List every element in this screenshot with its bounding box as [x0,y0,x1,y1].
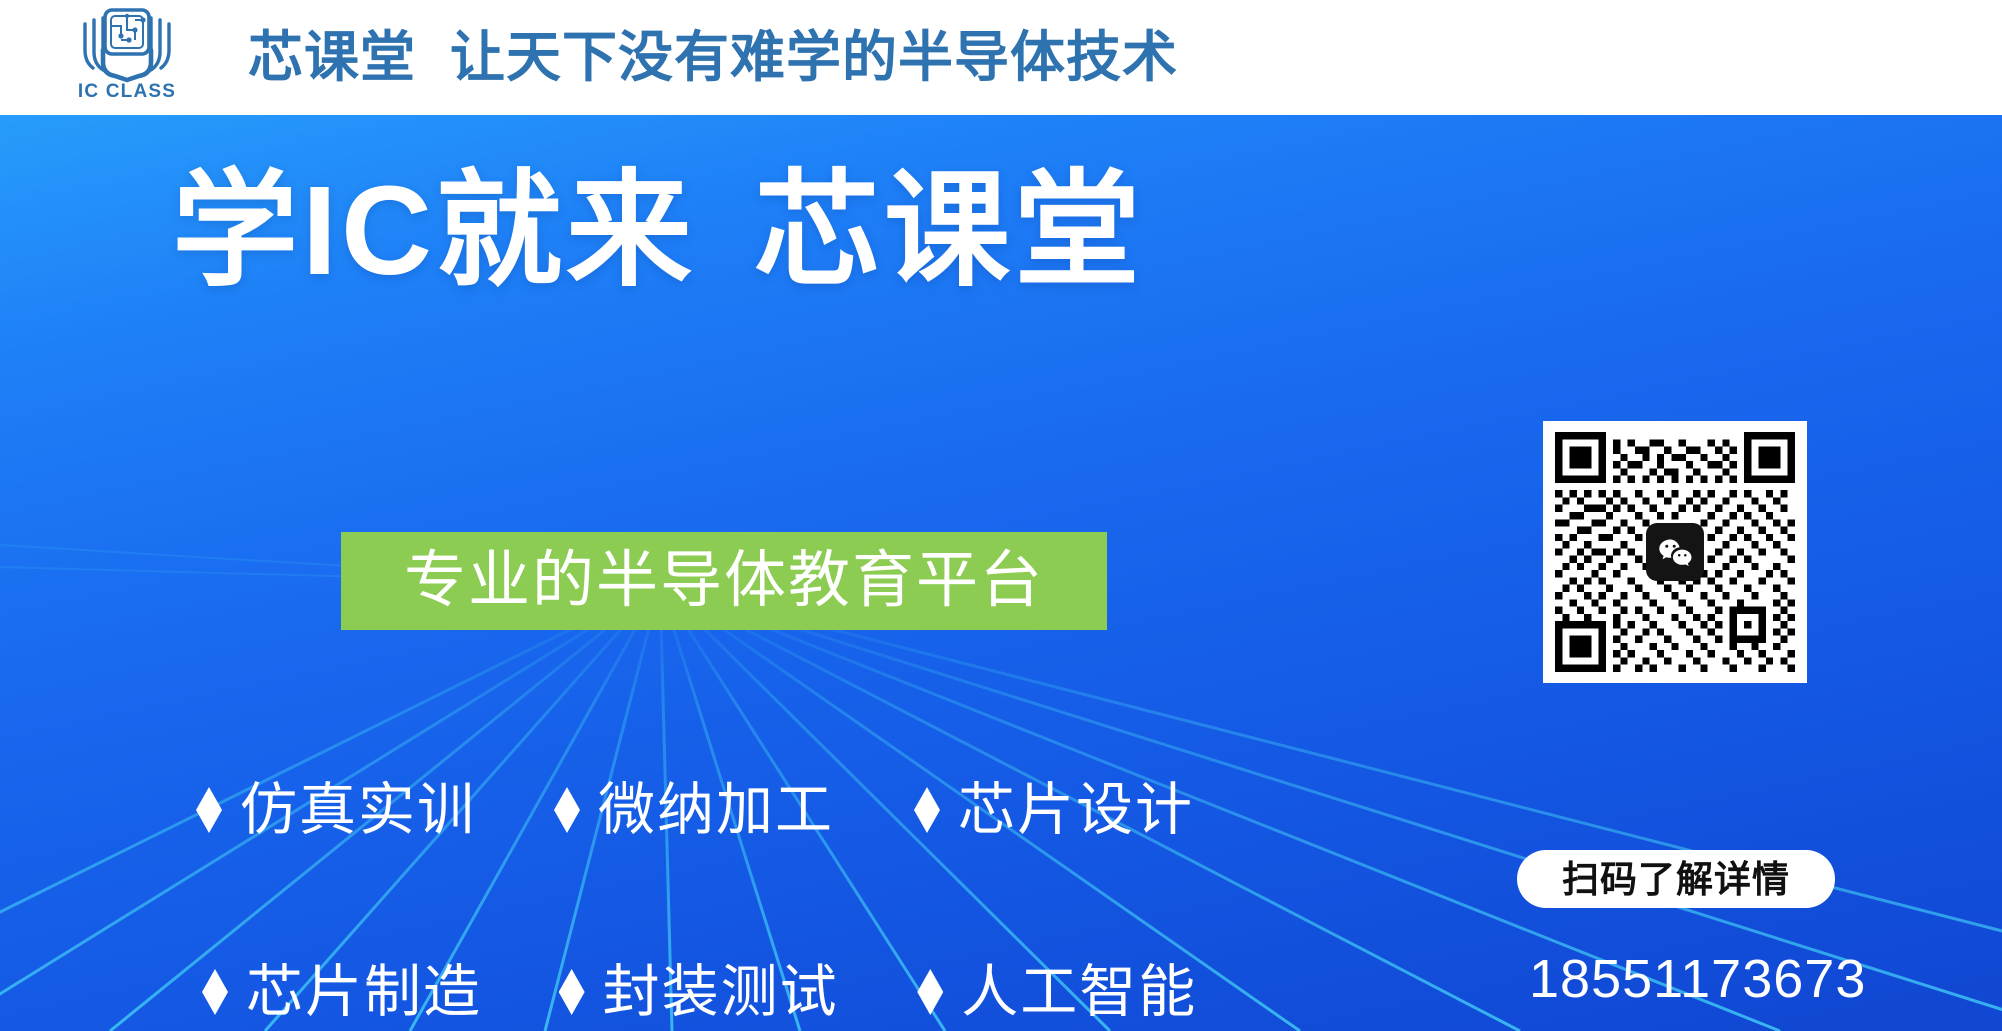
wechat-icon [1646,523,1704,581]
feature-item-artificial-intelligence[interactable]: 人工智能 [917,964,1256,1021]
header-slogan: 让天下没有难学的半导体技术 [450,26,1178,88]
header-bar: IC CLASS 芯课堂让天下没有难学的半导体技术 [0,0,2002,115]
feature-label: 微纳加工 [598,782,834,839]
wechat-glyph [1655,532,1695,572]
feature-item-chip-manufacturing[interactable]: 芯片制造 [202,964,559,1021]
feature-item-micro-nano-fabrication[interactable]: 微纳加工 [554,782,914,839]
hero-headline: 学IC就来芯课堂 [172,163,1144,299]
feature-row-1: 仿真实训 微纳加工 芯片设计 [196,755,1256,865]
scan-cta-button[interactable]: 扫码了解详情 [1517,850,1835,908]
feature-label: 芯片制造 [246,964,482,1021]
feature-list: 仿真实训 微纳加工 芯片设计 芯片制造 封装测试 [196,755,1256,1031]
feature-item-packaging-testing[interactable]: 封装测试 [559,964,918,1021]
feature-label: 封装测试 [603,964,839,1021]
feature-item-simulation-training[interactable]: 仿真实训 [196,782,554,839]
phone-number[interactable]: 18551173673 [1529,952,1829,1006]
tagline-badge: 专业的半导体教育平台 [341,532,1107,630]
qr-code-card[interactable] [1543,421,1807,683]
feature-row-2: 芯片制造 封装测试 人工智能 [202,937,1256,1031]
diamond-icon [202,969,228,1015]
diamond-icon [559,969,585,1015]
tagline-text: 专业的半导体教育平台 [404,550,1044,612]
diamond-icon [554,787,580,833]
hero-section: 学IC就来芯课堂 专业的半导体教育平台 仿真实训 微纳加工 芯片设计 [0,115,2002,1031]
diamond-icon [196,787,222,833]
header-title: 芯课堂让天下没有难学的半导体技术 [248,30,1178,85]
scan-cta-label: 扫码了解详情 [1562,861,1790,898]
ic-class-book-circuit-logo [63,6,191,84]
feature-label: 芯片设计 [958,782,1194,839]
feature-item-chip-design[interactable]: 芯片设计 [914,782,1254,839]
brand-logo[interactable]: IC CLASS [52,6,202,110]
banner-canvas: IC CLASS 芯课堂让天下没有难学的半导体技术 [0,0,2002,1031]
header-brand: 芯课堂 [248,26,416,88]
feature-label: 人工智能 [961,964,1197,1021]
headline-line-part-1: 学IC就来 [172,160,696,301]
diamond-icon [914,787,940,833]
feature-label: 仿真实训 [240,782,476,839]
headline-line-part-2: 芯课堂 [754,160,1144,301]
logo-wordmark: IC CLASS [78,82,176,101]
diamond-icon [917,969,943,1015]
